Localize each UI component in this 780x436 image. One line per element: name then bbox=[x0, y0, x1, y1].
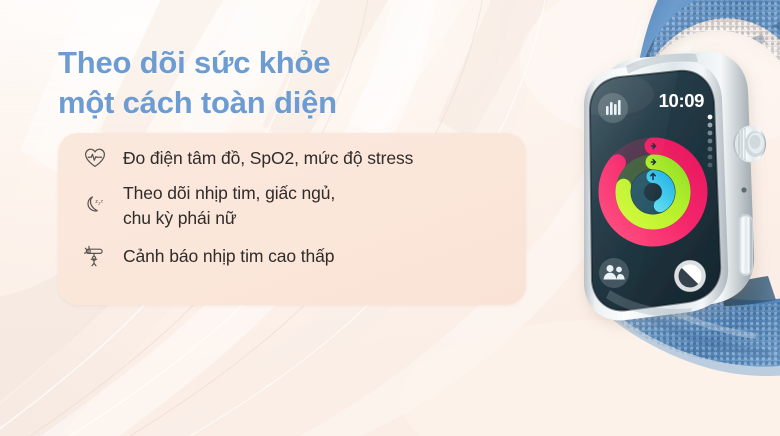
heart-ecg-icon bbox=[80, 143, 110, 173]
health-tracking-banner: Theo dõi sức khỏe một cách toàn diện Đo … bbox=[0, 0, 780, 436]
side-button[interactable] bbox=[738, 214, 753, 276]
feature-text: Đo điện tâm đồ, SpO2, mức độ stress bbox=[123, 146, 413, 171]
feature-row-alert: Cảnh báo nhịp tim cao thấp bbox=[80, 241, 334, 271]
feature-row-sleep: z z z Theo dõi nhịp tim, giấc ngủ, chu k… bbox=[80, 181, 335, 231]
moon-sleep-icon: z z z bbox=[80, 191, 110, 221]
apple-watch-product-image: 10:09 bbox=[540, 0, 780, 436]
page-title: Theo dõi sức khỏe một cách toàn diện bbox=[58, 43, 488, 124]
compass-icon[interactable] bbox=[675, 261, 706, 292]
feature-text: Cảnh báo nhịp tim cao thấp bbox=[123, 244, 334, 269]
feature-list-card: Đo điện tâm đồ, SpO2, mức độ stress z z … bbox=[58, 133, 526, 305]
svg-text:z: z bbox=[101, 199, 104, 204]
microphone-port bbox=[741, 187, 746, 192]
alert-siren-icon bbox=[80, 241, 110, 271]
feature-text: Theo dõi nhịp tim, giấc ngủ, chu kỳ phái… bbox=[123, 181, 335, 231]
feature-row-ecg: Đo điện tâm đồ, SpO2, mức độ stress bbox=[80, 143, 413, 173]
